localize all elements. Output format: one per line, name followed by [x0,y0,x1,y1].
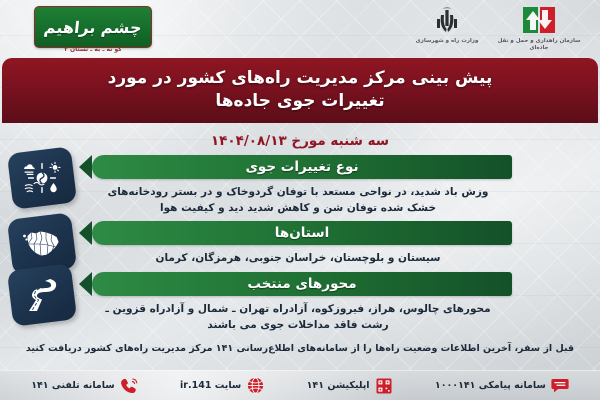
contact-phone-label: سامانه تلفنی ۱۴۱ [31,380,114,391]
logo-ministry: وزارت راه و شهرسازی [412,4,482,45]
section-provinces: استان‌ها [2,220,598,266]
logo-rmto-caption: سازمان راهداری و حمل و نقل جاده‌ای [496,38,582,51]
logo-ministry-caption: وزارت راه و شهرسازی [412,38,482,45]
contact-phone[interactable]: سامانه تلفنی ۱۴۱ [31,377,137,395]
section-body-provinces: سیستان و بلوچستان، خراسان جنوبی، هرمزگان… [98,250,498,266]
section-title-bar: محورهای منتخب [92,272,512,296]
weather-icon [7,146,77,209]
section-title-weather-type: نوع تغییرات جوی [245,159,358,175]
contact-website-label: سایت 141.ir [180,380,241,391]
section-body-selected-routes: محورهای چالوس، هراز، فیروزکوه، آزادراه ت… [98,301,498,334]
section-weather-type: نوع تغییرات جوی [2,154,598,217]
section-title-bar: نوع تغییرات جوی [92,155,512,179]
logo-rmto: سازمان راهداری و حمل و نقل جاده‌ای [496,4,582,51]
forecast-date: سه شنبه مورخ ۱۴۰۴/۰۸/۱۳ [211,133,389,149]
ministry-logo-icon [412,4,482,36]
organization-logos: سازمان راهداری و حمل و نقل جاده‌ای [412,4,582,51]
section-header-row: استان‌ها [92,220,512,246]
contact-website[interactable]: سایت 141.ir [180,377,264,395]
contact-sms-label: سامانه پیامکی ۱۰۰۰۱۴۱ [435,380,546,391]
page-title-line1: پیش بینی مرکز مدیریت راه‌های کشور در مور… [18,67,582,90]
globe-icon [246,377,264,395]
date-row: سه شنبه مورخ ۱۴۰۴/۰۸/۱۳ [0,123,600,154]
contact-sms[interactable]: سامانه پیامکی ۱۰۰۰۱۴۱ [435,377,569,395]
contact-app-label: اپلیکیشن ۱۴۱ [307,380,370,391]
section-title-selected-routes: محورهای منتخب [247,276,356,292]
section-header-row: نوع تغییرات جوی [92,154,512,180]
section-header-row: محورهای منتخب [92,271,512,297]
sms-icon [551,377,569,395]
phone-icon [120,377,138,395]
top-bar: چشم براهیم کو نه ـ به ـ نستان ۲ سازمان ر… [0,0,600,58]
contact-bar: سامانه پیامکی ۱۰۰۰۱۴۱ [0,370,600,400]
infographic-poster: چشم براهیم کو نه ـ به ـ نستان ۲ سازمان ر… [0,0,600,400]
brand-badge-subtext: کو نه ـ به ـ نستان ۲ [34,46,152,53]
winding-road-icon [7,263,77,326]
title-bar: پیش بینی مرکز مدیریت راه‌های کشور در مور… [2,58,598,123]
page-title-line2: تغییرات جوی جاده‌ها [18,90,582,113]
sections-container: نوع تغییرات جوی [0,154,600,333]
section-title-provinces: استان‌ها [275,225,329,241]
brand-badge: چشم براهیم [34,6,152,48]
rmto-logo-icon [496,4,582,36]
brand-badge-label: چشم براهیم [43,18,143,37]
section-body-weather-type: وزش باد شدید، در نواحی مستعد با توفان گر… [98,184,498,217]
qr-app-icon [375,377,393,395]
section-selected-routes: محورهای منتخب محورهای چالوس، هراز، فیروز… [2,271,598,334]
contact-app[interactable]: اپلیکیشن ۱۴۱ [307,377,393,395]
section-title-bar: استان‌ها [92,221,512,245]
footer-note: قبل از سفر، آخرین اطلاعات وضعیت راه‌ها ر… [0,337,600,356]
